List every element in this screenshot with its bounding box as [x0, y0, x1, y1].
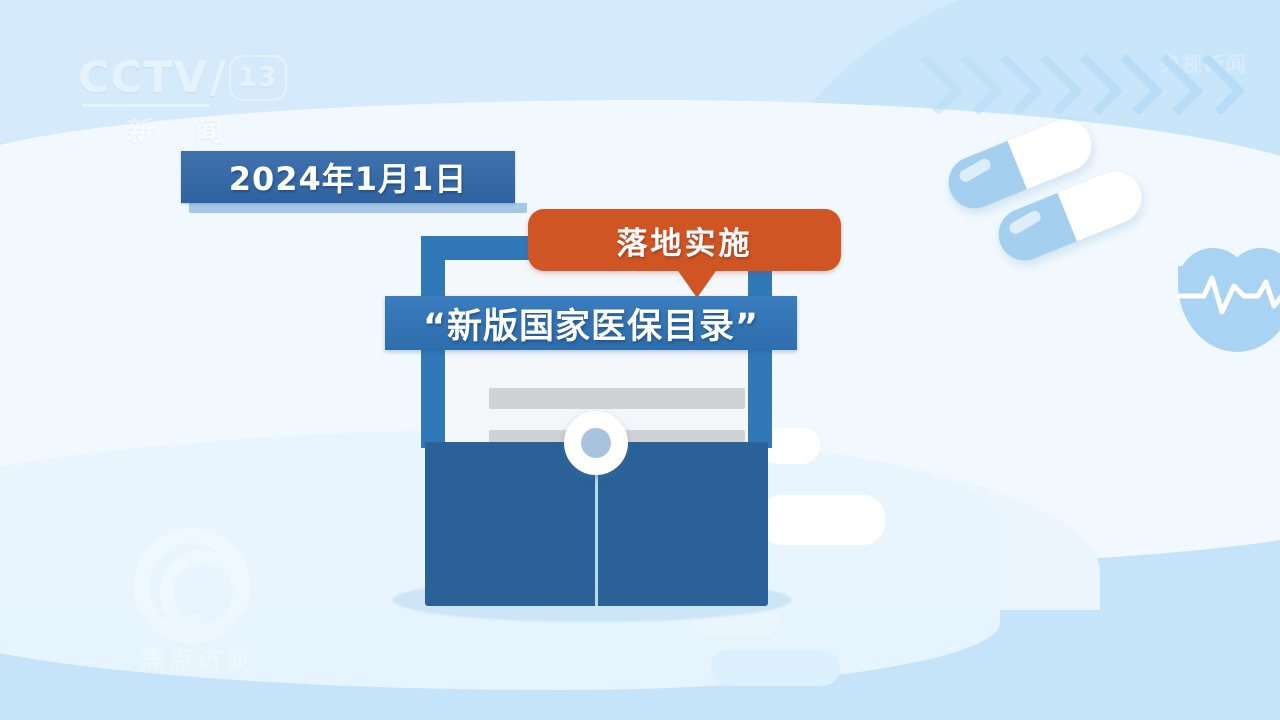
capsule-highlight — [957, 157, 992, 184]
capsule-highlight — [1007, 209, 1042, 236]
date-banner-label: 2024年1月1日 — [229, 154, 468, 200]
main-title-banner: “新版国家医保目录” — [385, 296, 797, 350]
file-box-clasp-icon — [564, 411, 628, 475]
broadcast-graphic-stage: CCTV / 13 新 闻 央视新闻 焦点访谈 — [0, 0, 1280, 720]
date-banner-shadow — [189, 203, 527, 213]
file-box-door-left — [425, 442, 595, 606]
speed-line-decoration — [710, 650, 840, 686]
callout-bubble-label: 落地实施 — [617, 218, 753, 263]
file-box-door-right — [598, 442, 768, 606]
medical-file-box-illustration — [421, 236, 772, 606]
main-title-label: “新版国家医保目录” — [423, 298, 759, 349]
heartbeat-heart-icon — [1178, 248, 1280, 354]
ecg-line-icon — [1178, 262, 1280, 322]
callout-bubble-tail — [676, 268, 718, 298]
file-box-doors — [425, 442, 768, 606]
date-banner: 2024年1月1日 — [181, 151, 515, 203]
callout-bubble: 落地实施 — [528, 209, 841, 271]
document-text-line — [489, 388, 745, 409]
speed-line-decoration — [760, 495, 885, 545]
